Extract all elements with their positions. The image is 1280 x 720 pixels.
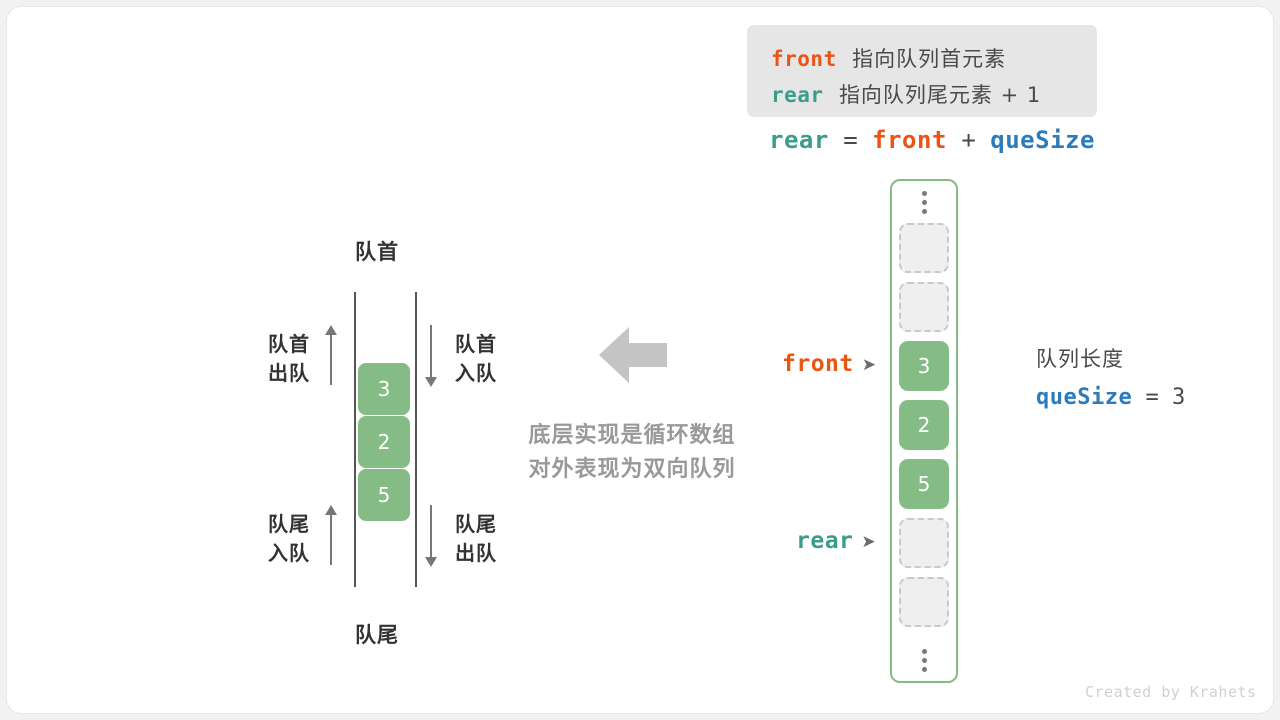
array-slot (899, 282, 949, 332)
queue-size-keyword: queSize (1036, 385, 1132, 410)
pointer-chevron-icon: ➤ (861, 531, 875, 554)
deque-label-tail-dequeue-line1: 队尾 (455, 510, 497, 539)
rear-pointer-label: rear➤ (796, 529, 876, 554)
implementation-note: 底层实现是循环数组 对外表现为双向队列 (507, 419, 757, 487)
queue-size-expression: queSize = 3 (1036, 385, 1185, 409)
legend-box: front 指向队列首元素 rear 指向队列尾元素 + 1 (747, 25, 1097, 117)
front-pointer-label: front➤ (782, 352, 876, 377)
legend-front-text: 指向队列首元素 (852, 47, 1006, 71)
deque-label-tail-dequeue-line2: 出队 (455, 539, 497, 568)
deque-label-head-enqueue-line1: 队首 (455, 330, 497, 359)
deque-label-tail-enqueue-line2: 入队 (258, 539, 310, 568)
left-pointing-arrow-icon (599, 327, 667, 383)
formula-rear-equals-front-plus-quesize: rear = front + queSize (769, 127, 1095, 154)
rear-pointer-text: rear (796, 528, 853, 554)
array-slot: 5 (899, 459, 949, 509)
credit-text: Created by Krahets (1085, 683, 1257, 701)
formula-equals: = (843, 126, 857, 154)
ellipsis-bottom-icon (892, 643, 956, 677)
array-slot (899, 223, 949, 273)
deque-label-tail-dequeue: 队尾 出队 (455, 510, 497, 568)
arrow-down-head-enqueue-icon (425, 325, 437, 387)
front-pointer-text: front (782, 351, 854, 377)
array-slot (899, 518, 949, 568)
pointer-chevron-icon: ➤ (862, 354, 876, 377)
arrow-up-head-dequeue-icon (325, 325, 337, 387)
deque-rail-right (415, 292, 417, 587)
legend-front-keyword: front (771, 47, 837, 71)
legend-line-rear: rear 指向队列尾元素 + 1 (771, 85, 1041, 106)
circular-array-container: 3 2 5 (890, 179, 958, 683)
deque-rail-left (354, 292, 356, 587)
deque-tail-label: 队尾 (355, 619, 399, 649)
formula-front: front (872, 126, 947, 154)
formula-rear: rear (769, 126, 829, 154)
formula-quesize: queSize (990, 126, 1095, 154)
legend-line-front: front 指向队列首元素 (771, 49, 1006, 70)
formula-plus: + (961, 126, 975, 154)
deque-cell: 3 (358, 363, 410, 415)
deque-label-head-enqueue-line2: 入队 (455, 359, 497, 388)
legend-rear-keyword: rear (771, 83, 824, 107)
arrow-up-tail-enqueue-icon (325, 505, 337, 567)
queue-size-title: 队列长度 (1036, 348, 1185, 371)
queue-size-note: 队列长度 queSize = 3 (1036, 348, 1185, 409)
arrow-down-tail-dequeue-icon (425, 505, 437, 567)
deque-label-head-dequeue-line2: 出队 (258, 359, 310, 388)
deque-label-head-dequeue: 队首 出队 (258, 330, 310, 388)
deque-label-tail-enqueue: 队尾 入队 (258, 510, 310, 568)
diagram-card: front 指向队列首元素 rear 指向队列尾元素 + 1 rear = fr… (7, 7, 1273, 713)
deque-label-head-enqueue: 队首 入队 (455, 330, 497, 388)
deque-cell: 2 (358, 416, 410, 468)
deque-head-label: 队首 (355, 236, 399, 266)
diagram-canvas: front 指向队列首元素 rear 指向队列尾元素 + 1 rear = fr… (0, 0, 1280, 720)
deque-label-tail-enqueue-line1: 队尾 (258, 510, 310, 539)
implementation-note-line2: 对外表现为双向队列 (507, 453, 757, 487)
array-slot (899, 577, 949, 627)
array-slot: 3 (899, 341, 949, 391)
queue-size-value: 3 (1172, 385, 1185, 410)
queue-size-equals: = (1145, 385, 1158, 410)
implementation-note-line1: 底层实现是循环数组 (507, 419, 757, 453)
deque-label-head-dequeue-line1: 队首 (258, 330, 310, 359)
deque-cell: 5 (358, 469, 410, 521)
ellipsis-top-icon (892, 185, 956, 219)
array-slot: 2 (899, 400, 949, 450)
legend-rear-text: 指向队列尾元素 + 1 (839, 83, 1041, 107)
